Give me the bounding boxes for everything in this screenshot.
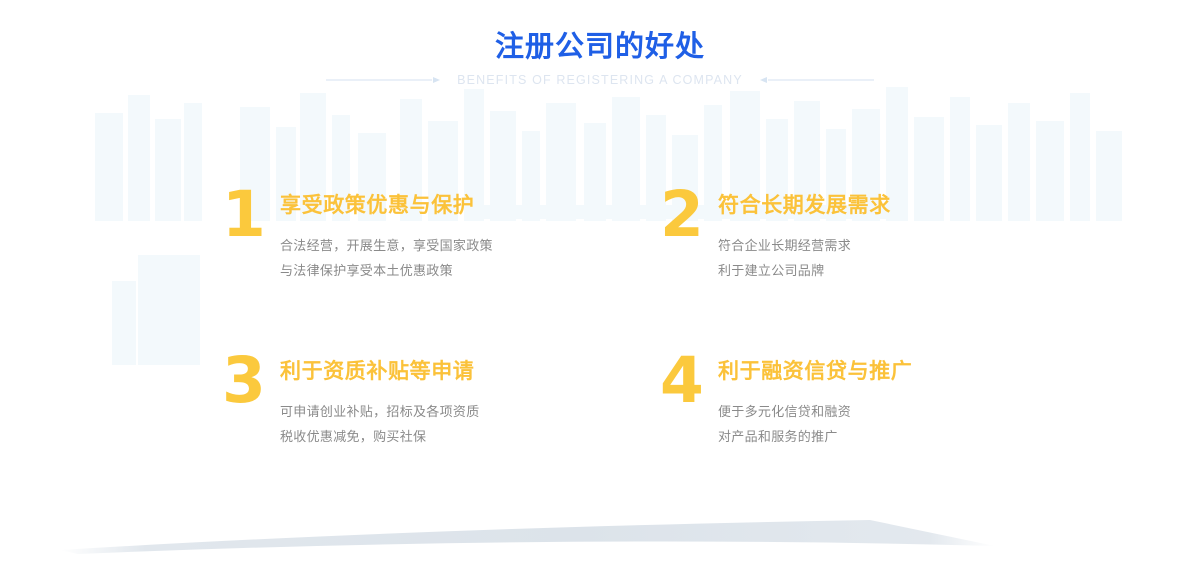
benefit-content: 享受政策优惠与保护 合法经营，开展生意，享受国家政策 与法律保护享受本土优惠政策 bbox=[280, 186, 493, 283]
benefit-description: 便于多元化信贷和融资 对产品和服务的推广 bbox=[718, 399, 912, 449]
subtitle-row: BENEFITS OF REGISTERING A COMPANY bbox=[0, 74, 1200, 87]
decoration-line-right bbox=[759, 75, 874, 85]
benefit-heading: 利于资质补贴等申请 bbox=[280, 361, 480, 382]
benefit-description-line: 便于多元化信贷和融资 bbox=[718, 399, 912, 424]
benefit-number: 1 bbox=[222, 186, 280, 244]
benefit-heading: 利于融资信贷与推广 bbox=[718, 361, 912, 382]
benefit-number: 4 bbox=[660, 352, 718, 410]
benefit-content: 利于融资信贷与推广 便于多元化信贷和融资 对产品和服务的推广 bbox=[718, 352, 912, 449]
benefit-description-line: 与法律保护享受本土优惠政策 bbox=[280, 258, 493, 283]
benefit-description-line: 可申请创业补贴，招标及各项资质 bbox=[280, 399, 480, 424]
header: 注册公司的好处 BENEFITS OF REGISTERING A COMPAN… bbox=[0, 0, 1200, 87]
benefit-description-line: 利于建立公司品牌 bbox=[718, 258, 891, 283]
benefit-number: 2 bbox=[660, 186, 718, 244]
benefit-description-line: 对产品和服务的推广 bbox=[718, 424, 912, 449]
benefit-item-2: 2 符合长期发展需求 符合企业长期经营需求 利于建立公司品牌 bbox=[660, 186, 891, 283]
benefit-description-line: 合法经营，开展生意，享受国家政策 bbox=[280, 233, 493, 258]
benefit-item-3: 3 利于资质补贴等申请 可申请创业补贴，招标及各项资质 税收优惠减免，购买社保 bbox=[222, 352, 480, 449]
benefit-description: 符合企业长期经营需求 利于建立公司品牌 bbox=[718, 233, 891, 283]
benefit-item-4: 4 利于融资信贷与推广 便于多元化信贷和融资 对产品和服务的推广 bbox=[660, 352, 912, 449]
benefits-grid: 1 享受政策优惠与保护 合法经营，开展生意，享受国家政策 与法律保护享受本土优惠… bbox=[0, 0, 1200, 584]
benefit-description: 合法经营，开展生意，享受国家政策 与法律保护享受本土优惠政策 bbox=[280, 233, 493, 283]
decoration-line-left bbox=[326, 75, 441, 85]
benefit-heading: 符合长期发展需求 bbox=[718, 195, 891, 216]
benefit-description: 可申请创业补贴，招标及各项资质 税收优惠减免，购买社保 bbox=[280, 399, 480, 449]
benefit-description-line: 符合企业长期经营需求 bbox=[718, 233, 891, 258]
benefit-content: 符合长期发展需求 符合企业长期经营需求 利于建立公司品牌 bbox=[718, 186, 891, 283]
benefit-heading: 享受政策优惠与保护 bbox=[280, 195, 493, 216]
benefit-item-1: 1 享受政策优惠与保护 合法经营，开展生意，享受国家政策 与法律保护享受本土优惠… bbox=[222, 186, 493, 283]
benefit-content: 利于资质补贴等申请 可申请创业补贴，招标及各项资质 税收优惠减免，购买社保 bbox=[280, 352, 480, 449]
benefit-number: 3 bbox=[222, 352, 280, 410]
page-subtitle: BENEFITS OF REGISTERING A COMPANY bbox=[441, 74, 759, 87]
page-title: 注册公司的好处 bbox=[0, 33, 1200, 62]
benefit-description-line: 税收优惠减免，购买社保 bbox=[280, 424, 480, 449]
